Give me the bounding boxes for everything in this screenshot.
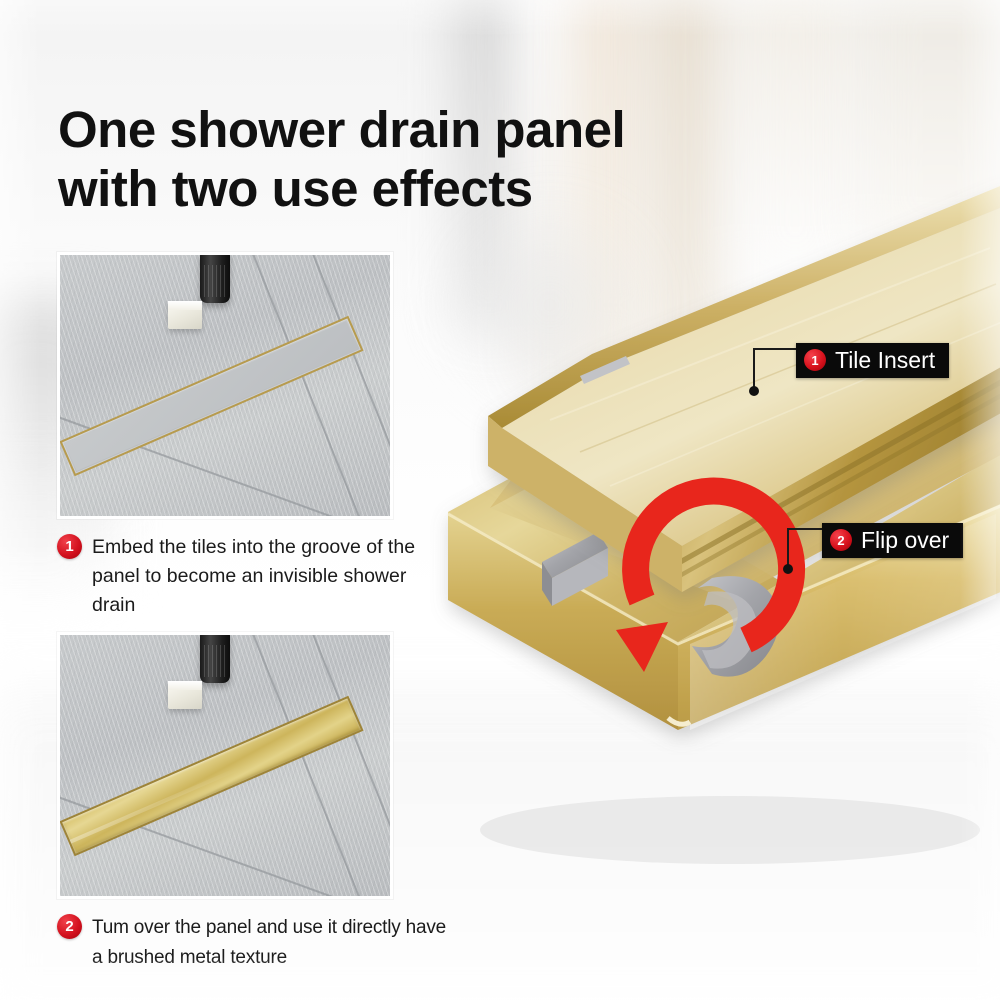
tile-insert-installed-photo bbox=[57, 252, 393, 519]
page-title: One shower drain panel with two use effe… bbox=[58, 100, 778, 218]
caption-badge-2: 2 bbox=[57, 914, 82, 939]
black-bottle-prop bbox=[200, 632, 230, 683]
caption-text-2: Tum over the panel and use it directly h… bbox=[92, 913, 447, 973]
product-ground-shadow bbox=[480, 796, 980, 864]
white-cube-prop bbox=[168, 681, 202, 709]
headline-line-1: One shower drain panel bbox=[58, 101, 625, 158]
callout-label-tile-insert: Tile Insert bbox=[835, 347, 935, 373]
callout-badge-2: 2 bbox=[830, 529, 852, 551]
caption-one: 1 Embed the tiles into the groove of the… bbox=[57, 533, 447, 620]
white-cube-prop bbox=[168, 301, 202, 329]
callout-tile-insert[interactable]: 1 Tile Insert bbox=[796, 343, 949, 378]
caption-text-1: Embed the tiles into the groove of the p… bbox=[92, 533, 447, 620]
black-bottle-prop bbox=[200, 252, 230, 303]
callout-badge-1: 1 bbox=[804, 349, 826, 371]
headline-line-2: with two use effects bbox=[58, 159, 778, 218]
callout-flip-over[interactable]: 2 Flip over bbox=[822, 523, 963, 558]
brushed-gold-drain-panel bbox=[59, 696, 363, 856]
tile-insert-drain-outline bbox=[59, 316, 363, 476]
caption-badge-1: 1 bbox=[57, 534, 82, 559]
brushed-panel-installed-photo bbox=[57, 632, 393, 899]
infographic-canvas: One shower drain panel with two use effe… bbox=[0, 0, 1000, 1000]
callout-label-flip-over: Flip over bbox=[861, 527, 949, 553]
caption-two: 2 Tum over the panel and use it directly… bbox=[57, 913, 447, 973]
gold-linear-shower-drain bbox=[430, 300, 1000, 880]
